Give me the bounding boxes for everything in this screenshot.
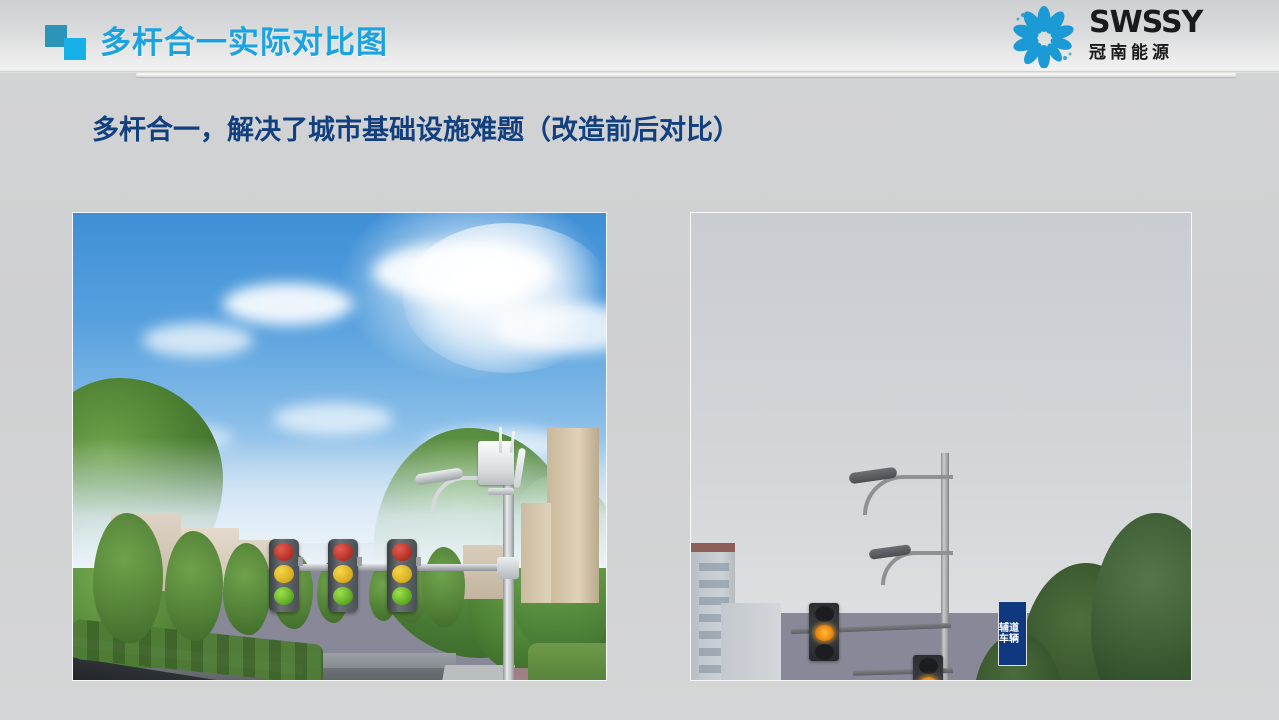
signal-amber-lamp — [333, 565, 353, 583]
cloud-shape — [223, 283, 353, 325]
signal-amber-lamp — [274, 565, 294, 583]
traffic-signal-head — [269, 539, 299, 612]
vertical-guide-sign: 辅道车辆 — [998, 601, 1027, 666]
cloud-shape — [273, 403, 393, 435]
building-tower — [521, 503, 551, 603]
antenna-icon — [499, 427, 502, 453]
tree-canopy — [423, 547, 465, 627]
tree-canopy — [93, 513, 163, 643]
signal-lamp-off — [815, 606, 834, 622]
building-roof — [691, 543, 735, 552]
brand-logo: SWSSY 冠南能源 — [1007, 6, 1257, 68]
traffic-signal-head-main — [913, 655, 943, 680]
swssy-petal-logo-icon — [1007, 6, 1081, 68]
signal-green-lamp — [392, 587, 412, 605]
traffic-signal-head-left — [809, 603, 839, 661]
signal-lamp-off — [919, 658, 938, 674]
signal-right-arrow-lamp — [919, 677, 938, 680]
arm-mount — [357, 557, 362, 566]
signal-red-lamp — [274, 543, 294, 561]
comparison-image-after[interactable] — [73, 213, 606, 680]
planting-strip — [528, 643, 606, 680]
signal-red-lamp — [333, 543, 353, 561]
arm-mount — [298, 557, 303, 566]
signal-lamp-off — [815, 644, 834, 660]
building-tower — [547, 428, 599, 603]
signal-red-lamp — [392, 543, 412, 561]
slide-subtitle: 多杆合一，解决了城市基础设施难题（改造前后对比） — [92, 108, 740, 147]
traffic-signal-head — [387, 539, 417, 612]
decor-square-light-icon — [64, 38, 86, 60]
brand-subname: 冠南能源 — [1089, 41, 1257, 65]
brand-logo-text: SWSSY 冠南能源 — [1089, 8, 1257, 65]
sun-glow — [403, 223, 606, 373]
page-title: 多杆合一实际对比图 — [100, 17, 388, 62]
cctv-camera-icon — [488, 488, 514, 495]
traffic-signal-head — [328, 539, 358, 612]
signal-amber-lamp — [392, 565, 412, 583]
header-accent-bar — [136, 73, 1236, 77]
tree-canopy — [165, 531, 223, 641]
building-block — [721, 603, 781, 680]
crossarm-joint — [497, 557, 519, 579]
slide-canvas: 多杆合一实际对比图 — [0, 0, 1279, 720]
arm-mount — [416, 557, 421, 566]
signal-right-arrow-lamp — [815, 625, 834, 641]
signal-green-lamp — [333, 587, 353, 605]
5g-antenna-box — [478, 441, 514, 485]
signal-green-lamp — [274, 587, 294, 605]
cloud-shape — [143, 323, 253, 357]
comparison-image-before[interactable]: 辅道车辆 — [691, 213, 1191, 680]
tree-canopy — [223, 543, 271, 635]
brand-name: SWSSY — [1089, 8, 1257, 38]
